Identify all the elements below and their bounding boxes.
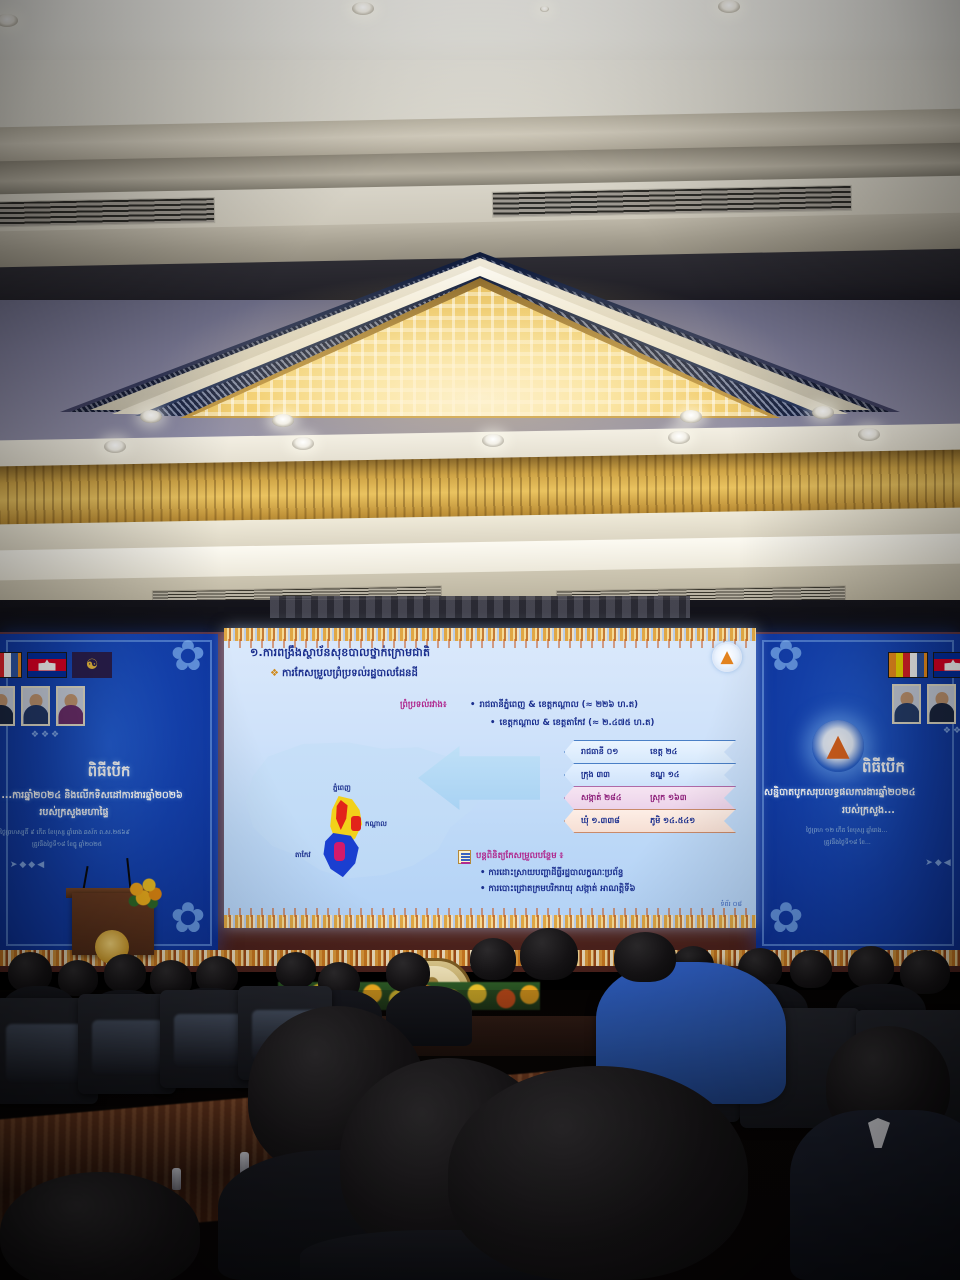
portrait-1 bbox=[892, 684, 921, 724]
stupa-logo-icon: ▲ bbox=[812, 720, 864, 772]
cell-right: ខណ្ឌ ១៤ bbox=[650, 769, 735, 781]
portrait-2 bbox=[21, 686, 50, 726]
boundary-label: ព្រំប្រទល់រវាង៖ bbox=[400, 700, 447, 712]
right-screen-portraits bbox=[892, 684, 956, 724]
cambodia-flag-icon bbox=[27, 652, 67, 678]
left-screen-date-2: ត្រូវនឹងថ្ងៃទី១៨ ខែធ្នូ ឆ្នាំ២០២៥ bbox=[0, 840, 192, 849]
water-bottle-icon bbox=[172, 1168, 181, 1190]
map-label-takeo: តាកែវ bbox=[295, 851, 311, 861]
attendee-head bbox=[470, 938, 516, 980]
downlight-icon bbox=[352, 2, 374, 15]
corner-ornament-icon: ✿ bbox=[758, 896, 814, 952]
downlight-icon bbox=[104, 440, 126, 453]
downlight-icon bbox=[858, 428, 880, 441]
attendee-head bbox=[790, 950, 832, 988]
attendee-head bbox=[520, 928, 578, 980]
province-takeo-highlight bbox=[334, 842, 345, 861]
downlight-icon bbox=[812, 406, 834, 419]
right-screen-subtitle-2: របស់ក្រសួង... bbox=[842, 804, 960, 818]
ornament-divider-icon: ❖❖❖ bbox=[6, 730, 86, 740]
attendee-head bbox=[848, 946, 894, 988]
stupa-logo-icon: ▲ bbox=[712, 642, 742, 672]
chair-highlight bbox=[174, 1014, 244, 1066]
right-screen-date-1: ថ្ងៃព្រហ ១២ កើត ខែបុស្ស ឆ្នាំរោង... bbox=[806, 826, 960, 835]
bullet-dot-icon: • bbox=[490, 718, 495, 728]
downlight-icon bbox=[668, 431, 690, 444]
air-vent-icon bbox=[0, 197, 215, 228]
downlight-icon bbox=[482, 434, 504, 447]
cell-left: រាជធានី ០១ bbox=[565, 746, 650, 758]
note-item-text: ការបោះជ្រោតក្រមបរិករាយុ សង្កាត់ អាណត្តិទ… bbox=[488, 884, 635, 894]
corner-ornament-icon: ✿ bbox=[160, 634, 216, 690]
cell-right: ភូមិ ១៤.៥៤១ bbox=[650, 815, 735, 827]
boundary-bullet-1: •រាជធានីភ្នំពេញ & ខេត្តកណ្ដាល (≈ ២២៦ ហ.ត… bbox=[470, 700, 638, 712]
country-border-line bbox=[238, 728, 488, 888]
cell-left: សង្កាត់ ២៨៤ bbox=[565, 792, 650, 804]
cambodia-flag-icon bbox=[933, 652, 960, 678]
clipboard-icon bbox=[458, 850, 471, 864]
attendee-head-foreground bbox=[0, 1172, 200, 1280]
cambodia-map: ភ្នំពេញ កណ្ដាល តាកែវ bbox=[238, 728, 488, 888]
ornament-divider-icon: ➤◆◀ bbox=[904, 858, 960, 868]
corner-ornament-icon: ✿ bbox=[160, 896, 216, 952]
slide-subtitle-text: ការកែសម្រួលព្រំប្រទល់រដ្ឋបាលដែនដី bbox=[282, 668, 418, 679]
map-label-kandal: កណ្ដាល bbox=[365, 820, 387, 830]
boundary-bullet-1-text: រាជធានីភ្នំពេញ & ខេត្តកណ្ដាល (≈ ២២៦ ហ.ត) bbox=[479, 700, 638, 710]
buddhist-flag-icon bbox=[0, 652, 22, 678]
attendee-head bbox=[104, 954, 146, 992]
right-screen-flags bbox=[888, 652, 960, 678]
left-screen-portraits bbox=[0, 686, 85, 726]
left-screen-flags: ☯ bbox=[0, 652, 112, 678]
conference-hall-photo: ☯ ❖❖❖ ពិធីបើក ...ការឆ្នាំ២០២៤ និងលើកទិសដ… bbox=[0, 0, 960, 1280]
proscenium-grille bbox=[270, 596, 690, 618]
bullet-dot-icon: • bbox=[470, 700, 475, 710]
khmer-frieze-teeth bbox=[224, 908, 756, 917]
boundary-bullet-2: •ខេត្តកណ្ដាល & ខេត្តតាកែវ (≈ ២.៤៧៥ ហ.ត) bbox=[490, 718, 654, 730]
center-projection-screen: ▲ ១.ការពង្រឹងស្ថាប័នសុខបាលថ្នាក់ក្រោមជាត… bbox=[224, 628, 756, 928]
ornament-divider-icon: ➤◆◆◀ bbox=[0, 860, 68, 870]
left-screen-subtitle-2: របស់ក្រសួងមហាផ្ទៃ bbox=[0, 806, 200, 820]
royal-emblem-icon: ☯ bbox=[72, 652, 112, 678]
downlight-icon bbox=[680, 410, 702, 423]
buddhist-flag-icon bbox=[888, 652, 928, 678]
attendee-head bbox=[614, 932, 676, 982]
diamond-bullet-icon: ❖ bbox=[270, 668, 279, 679]
right-screen-title: ពិធីបើក bbox=[862, 758, 960, 780]
note-item: • ការបោះជ្រោតក្រមបរិករាយុ សង្កាត់ អាណត្ត… bbox=[458, 884, 738, 896]
downlight-icon bbox=[140, 410, 162, 423]
ornament-divider-icon: ❖❖ bbox=[918, 726, 960, 736]
note-heading-row: បន្តពិនិត្យកែសម្រួលបន្ថែម ៖ bbox=[458, 850, 738, 864]
air-vent-icon bbox=[492, 185, 852, 218]
table-row: ក្រុង ៣៣ ខណ្ឌ ១៤ bbox=[564, 763, 736, 787]
cell-right: ស្រុក ១៦៣ bbox=[650, 792, 735, 804]
boundary-bullet-2-text: ខេត្តកណ្ដាល & ខេត្តតាកែវ (≈ ២.៤៧៥ ហ.ត) bbox=[499, 718, 654, 728]
left-screen-subtitle-1: ...ការឆ្នាំ២០២៤ និងលើកទិសដៅការងារឆ្នាំ២០… bbox=[0, 789, 218, 803]
table-row: ឃុំ ១.៣៣៨ ភូមិ ១៤.៥៤១ bbox=[564, 809, 736, 833]
map-label-phnom-penh: ភ្នំពេញ bbox=[333, 784, 351, 794]
downlight-icon bbox=[272, 414, 294, 427]
corner-ornament-icon: ✿ bbox=[758, 634, 814, 690]
right-led-screen: ❖❖ ▲ ពិធីបើក សន្និបាតបូកសរុបលទ្ធផលការងារ… bbox=[756, 634, 960, 952]
province-phnom-penh-part bbox=[351, 816, 361, 831]
table-row: សង្កាត់ ២៨៤ ស្រុក ១៦៣ bbox=[564, 786, 736, 810]
right-screen-date-2: ត្រូវនឹងថ្ងៃទី១៨ ខែ... bbox=[824, 838, 960, 847]
attendee-head bbox=[276, 952, 316, 988]
table-row: រាជធានី ០១ ខេត្ត ២៤ bbox=[564, 740, 736, 764]
flower-bouquet-icon bbox=[128, 878, 162, 910]
portrait-3 bbox=[56, 686, 85, 726]
downlight-icon bbox=[718, 0, 740, 13]
downlight-icon bbox=[292, 437, 314, 450]
attendee-head-foreground bbox=[448, 1066, 748, 1280]
left-screen-date-1: ថ្ងៃព្រហស្បតិ៍ ៩ កើត ខែបុស្ស ឆ្នាំរោង ឆស… bbox=[0, 828, 190, 837]
followup-note-block: បន្តពិនិត្យកែសម្រួលបន្ថែម ៖ • ការដោះស្រា… bbox=[458, 850, 738, 896]
note-item: • ការដោះស្រាយបញ្ហាដីធ្លីរដ្ឋបាលក្ខណៈប្រព… bbox=[458, 868, 738, 880]
slide-title: ១.ការពង្រឹងស្ថាប័នសុខបាលថ្នាក់ក្រោមជាតិ bbox=[250, 646, 430, 662]
cell-right: ខេត្ត ២៤ bbox=[650, 746, 735, 758]
chair-highlight bbox=[6, 1024, 84, 1082]
slide-page-number: ទំព័រ ០៨ bbox=[720, 900, 742, 910]
portrait-1 bbox=[0, 686, 15, 726]
portrait-2 bbox=[927, 684, 956, 724]
slide-subtitle: ❖ការកែសម្រួលព្រំប្រទល់រដ្ឋបាលដែនដី bbox=[270, 666, 418, 681]
admin-unit-count-table: រាជធានី ០១ ខេត្ត ២៤ ក្រុង ៣៣ ខណ្ឌ ១៤ សង្… bbox=[564, 740, 736, 832]
note-heading-text: បន្តពិនិត្យកែសម្រួលបន្ថែម ៖ bbox=[476, 851, 563, 863]
left-screen-title: ពិធីបើក bbox=[0, 762, 218, 784]
note-item-text: ការដោះស្រាយបញ្ហាដីធ្លីរដ្ឋបាលក្ខណៈប្រព័ន… bbox=[488, 868, 623, 878]
chair-highlight bbox=[92, 1020, 164, 1074]
cell-left: ឃុំ ១.៣៣៨ bbox=[565, 815, 650, 827]
right-screen-subtitle-1: សន្និបាតបូកសរុបលទ្ធផលការងារឆ្នាំ២០២៤ bbox=[764, 786, 960, 800]
downlight-icon bbox=[540, 6, 549, 12]
cell-left: ក្រុង ៣៣ bbox=[565, 769, 650, 781]
